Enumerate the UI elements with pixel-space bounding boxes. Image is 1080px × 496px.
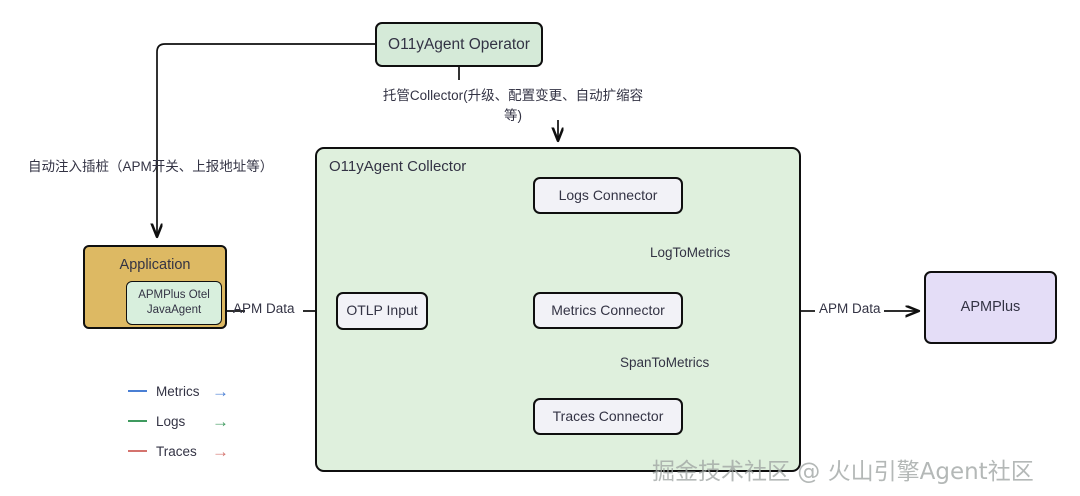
node-apmplus-label: APMPlus [961, 298, 1021, 316]
node-apmplus-otel-javaagent[interactable]: APMPlus Otel JavaAgent [126, 281, 222, 325]
node-traces-connector[interactable]: Traces Connector [533, 398, 683, 435]
diagram-canvas: O11yAgent Operator O11yAgent Collector A… [0, 0, 1080, 496]
edge-label-log-to-metrics: LogToMetrics [650, 245, 730, 260]
edge-label-auto-inject: 自动注入插桩（APM开关、上报地址等） [28, 155, 273, 175]
node-logs-connector[interactable]: Logs Connector [533, 177, 683, 214]
node-application-label: Application [85, 256, 225, 274]
legend: Metrics → Logs → Traces → [128, 376, 229, 466]
node-logs-connector-label: Logs Connector [559, 187, 658, 205]
legend-dash-metrics-icon [128, 390, 147, 392]
node-otlp-input[interactable]: OTLP Input [336, 292, 428, 330]
edge-label-apm-data-right: APM Data [819, 301, 881, 316]
node-metrics-connector[interactable]: Metrics Connector [533, 292, 683, 329]
watermark: 掘金技术社区 @ 火山引擎Agent社区 [652, 452, 1034, 486]
node-apmplus[interactable]: APMPlus [924, 271, 1057, 344]
legend-arrow-traces-icon: → [212, 443, 229, 460]
legend-item-traces: Traces → [128, 436, 229, 466]
node-application[interactable]: Application APMPlus Otel JavaAgent [83, 245, 227, 329]
node-traces-connector-label: Traces Connector [553, 408, 664, 426]
node-metrics-connector-label: Metrics Connector [551, 302, 665, 320]
legend-arrow-metrics-icon: → [212, 383, 229, 400]
legend-dash-logs-icon [128, 420, 147, 422]
legend-item-metrics: Metrics → [128, 376, 229, 406]
node-o11yagent-operator[interactable]: O11yAgent Operator [375, 22, 543, 67]
edge-label-apm-data-left: APM Data [233, 301, 295, 316]
legend-label-traces: Traces [156, 444, 206, 459]
edge-label-managed-collector: 托管Collector(升级、配置变更、自动扩缩容等) [378, 86, 648, 125]
legend-arrow-logs-icon: → [212, 413, 229, 430]
legend-dash-traces-icon [128, 450, 147, 452]
node-o11yagent-operator-label: O11yAgent Operator [388, 35, 530, 54]
legend-item-logs: Logs → [128, 406, 229, 436]
node-o11yagent-collector-label: O11yAgent Collector [329, 158, 466, 177]
node-apmplus-otel-javaagent-label: APMPlus Otel JavaAgent [138, 288, 210, 318]
edge-label-span-to-metrics: SpanToMetrics [620, 355, 709, 370]
node-otlp-input-label: OTLP Input [346, 302, 417, 320]
legend-label-logs: Logs [156, 414, 206, 429]
legend-label-metrics: Metrics [156, 384, 206, 399]
